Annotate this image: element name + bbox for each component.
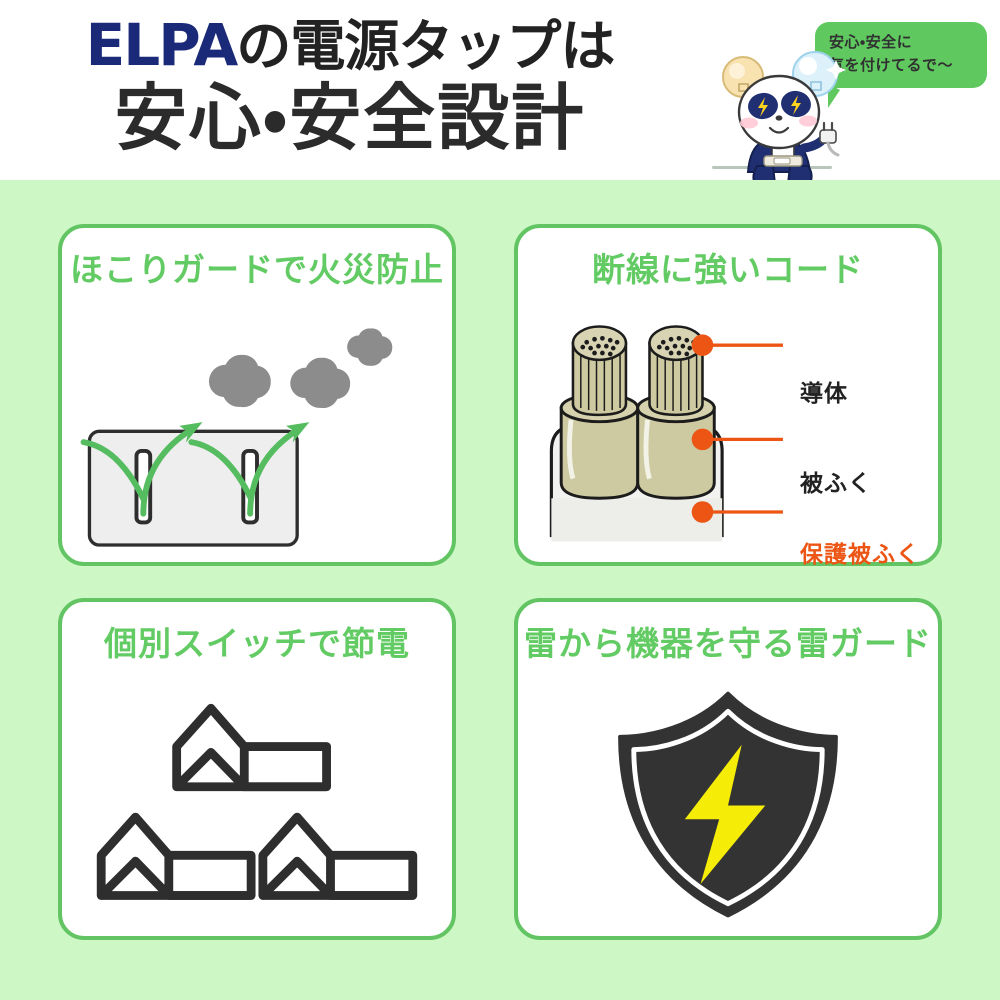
callout-label-protective-sheath: 保護被ふく	[800, 535, 920, 569]
feature-card-title: 雷から機器を守る雷ガード	[518, 624, 938, 664]
headline-line-2: 安心・安全設計	[0, 79, 700, 157]
headline-line-1-rest: の電源タップは	[236, 14, 614, 78]
feature-card-title: ほこりガードで火災防止	[62, 250, 452, 290]
rocker-switch-icon	[177, 708, 327, 786]
shield-with-lightning-illustration	[518, 676, 938, 931]
feature-card-title: 断線に強いコード	[518, 250, 938, 290]
page-header: ELPAの電源タップは 安心・安全設計 安心・安全に 気を付けてるで〜	[0, 0, 1000, 180]
rocker-switch-icon	[263, 817, 413, 895]
feature-card-individual-switch[interactable]: 個別スイッチで節電	[58, 598, 456, 940]
header-headline: ELPAの電源タップは 安心・安全設計	[0, 14, 700, 157]
feature-card-title: 個別スイッチで節電	[62, 624, 452, 664]
dust-cloud-icon	[209, 328, 392, 408]
outlet-dust-guard-illustration	[62, 302, 452, 557]
callout-label-conductor: 導体	[800, 374, 848, 408]
three-rocker-switches-illustration	[62, 676, 452, 931]
mascot-area: 安心・安全に 気を付けてるで〜	[700, 6, 1000, 186]
headline-line-1: ELPAの電源タップは	[0, 14, 700, 77]
mascot-bear-illustration	[712, 46, 862, 186]
cable-cross-section-illustration	[518, 302, 938, 557]
callout-label-insulation: 被ふく	[800, 464, 872, 498]
page-root: ELPAの電源タップは 安心・安全設計 安心・安全に 気を付けてるで〜	[0, 0, 1000, 1000]
feature-card-dust-guard[interactable]: ほこりガードで火災防止	[58, 224, 456, 566]
feature-card-surge-guard[interactable]: 雷から機器を守る雷ガード	[514, 598, 942, 940]
power-plug-icon	[820, 123, 838, 155]
elpa-logo-text: ELPA	[86, 11, 237, 79]
features-panel: ほこりガードで火災防止	[0, 180, 1000, 1000]
feature-card-durable-cord[interactable]: 断線に強いコード	[514, 224, 942, 566]
rocker-switch-icon	[101, 817, 251, 895]
